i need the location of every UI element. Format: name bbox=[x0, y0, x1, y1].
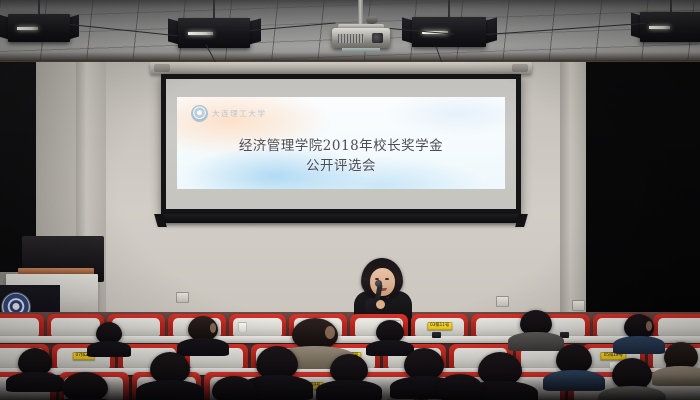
audience-face bbox=[646, 321, 653, 331]
light-barn-door-right bbox=[69, 14, 79, 39]
audience-member bbox=[292, 318, 338, 350]
audience-member bbox=[556, 344, 592, 374]
screen-surface: 大连理工大学 经济管理学院2018年校长奖学金 公开评选会 bbox=[166, 79, 516, 209]
screen-weight-bar bbox=[158, 214, 524, 223]
audience-shoulders bbox=[177, 338, 229, 356]
audience-shoulders bbox=[613, 336, 665, 354]
audience-member bbox=[624, 314, 654, 339]
audience-member bbox=[478, 352, 522, 386]
screen-housing-cap-left bbox=[154, 64, 170, 72]
university-name: 大连理工大学 bbox=[212, 108, 267, 119]
projection-screen-housing[interactable] bbox=[150, 62, 532, 74]
speaker-face bbox=[370, 268, 395, 296]
light-stem bbox=[670, 0, 672, 12]
university-crest-icon bbox=[191, 105, 208, 122]
projector-mount-knob bbox=[366, 16, 378, 24]
audience-shoulders bbox=[543, 370, 605, 392]
audience-shoulders bbox=[136, 380, 205, 400]
stage-light-1 bbox=[8, 14, 70, 42]
audience-face bbox=[325, 326, 335, 339]
paper-cup bbox=[238, 322, 247, 333]
audience-member bbox=[188, 316, 218, 341]
projector-vent bbox=[338, 34, 364, 43]
audience-shoulders bbox=[316, 380, 381, 400]
slide-title-line-1: 经济管理学院2018年校长奖学金 bbox=[177, 137, 505, 156]
projector-base bbox=[342, 48, 380, 52]
presentation-slide: 大连理工大学 经济管理学院2018年校长奖学金 公开评选会 bbox=[177, 97, 505, 189]
audience-shoulders bbox=[87, 341, 132, 357]
microphone-head-icon bbox=[375, 280, 382, 287]
audience-face bbox=[210, 323, 217, 333]
screen-housing-cap-right bbox=[512, 64, 528, 72]
audience-member bbox=[376, 320, 404, 343]
audience-member bbox=[330, 354, 368, 384]
audience-shoulders bbox=[652, 366, 700, 386]
slide-university-logo: 大连理工大学 bbox=[191, 105, 267, 122]
speaker-eye-right bbox=[385, 278, 389, 280]
audience-member bbox=[612, 358, 652, 390]
mobile-phone bbox=[432, 332, 441, 338]
audience-member bbox=[520, 310, 552, 336]
stage-light-3 bbox=[412, 17, 486, 47]
light-lamp-strip bbox=[649, 26, 670, 29]
slide-title: 经济管理学院2018年校长奖学金 公开评选会 bbox=[177, 137, 505, 175]
audience-member bbox=[664, 342, 698, 370]
seat-back-pad bbox=[51, 318, 99, 337]
audience-shoulders bbox=[6, 372, 64, 392]
audience-member bbox=[436, 374, 484, 400]
audience-member bbox=[96, 322, 122, 344]
light-lamp-strip bbox=[17, 27, 38, 30]
audience-member bbox=[62, 372, 108, 400]
audience-shoulders bbox=[366, 340, 414, 357]
auditorium-photo: 大连理工大学 经济管理学院2018年校长奖学金 公开评选会 bbox=[0, 0, 700, 400]
audience-member bbox=[150, 352, 190, 384]
light-stem bbox=[448, 0, 450, 17]
audience-member bbox=[212, 376, 256, 400]
projector-lens-icon bbox=[372, 33, 383, 43]
projection-screen: 大连理工大学 经济管理学院2018年校长奖学金 公开评选会 bbox=[161, 74, 521, 214]
slide-title-line-2: 公开评选会 bbox=[177, 157, 505, 176]
stage-light-4 bbox=[640, 12, 700, 42]
wall-pillar-right bbox=[560, 62, 586, 330]
audience-member bbox=[18, 348, 52, 376]
ceiling-projector bbox=[332, 28, 390, 51]
light-barn-door-right bbox=[485, 17, 497, 44]
seat-back-pad bbox=[658, 318, 700, 337]
projector-body bbox=[332, 28, 390, 48]
light-stem bbox=[38, 0, 40, 14]
light-stem bbox=[213, 0, 215, 18]
dark-wall-panel-right bbox=[586, 62, 700, 330]
stage-light-2 bbox=[178, 18, 250, 48]
audience-shoulders bbox=[508, 332, 563, 351]
wall-socket[interactable] bbox=[176, 292, 189, 303]
seat-number-tag: 03排11号 bbox=[427, 322, 452, 330]
audience-member bbox=[404, 348, 444, 380]
light-barn-door-right bbox=[249, 18, 261, 45]
seat-back-pad bbox=[0, 318, 39, 337]
light-lamp-strip bbox=[188, 32, 212, 35]
audience-member bbox=[256, 346, 298, 380]
